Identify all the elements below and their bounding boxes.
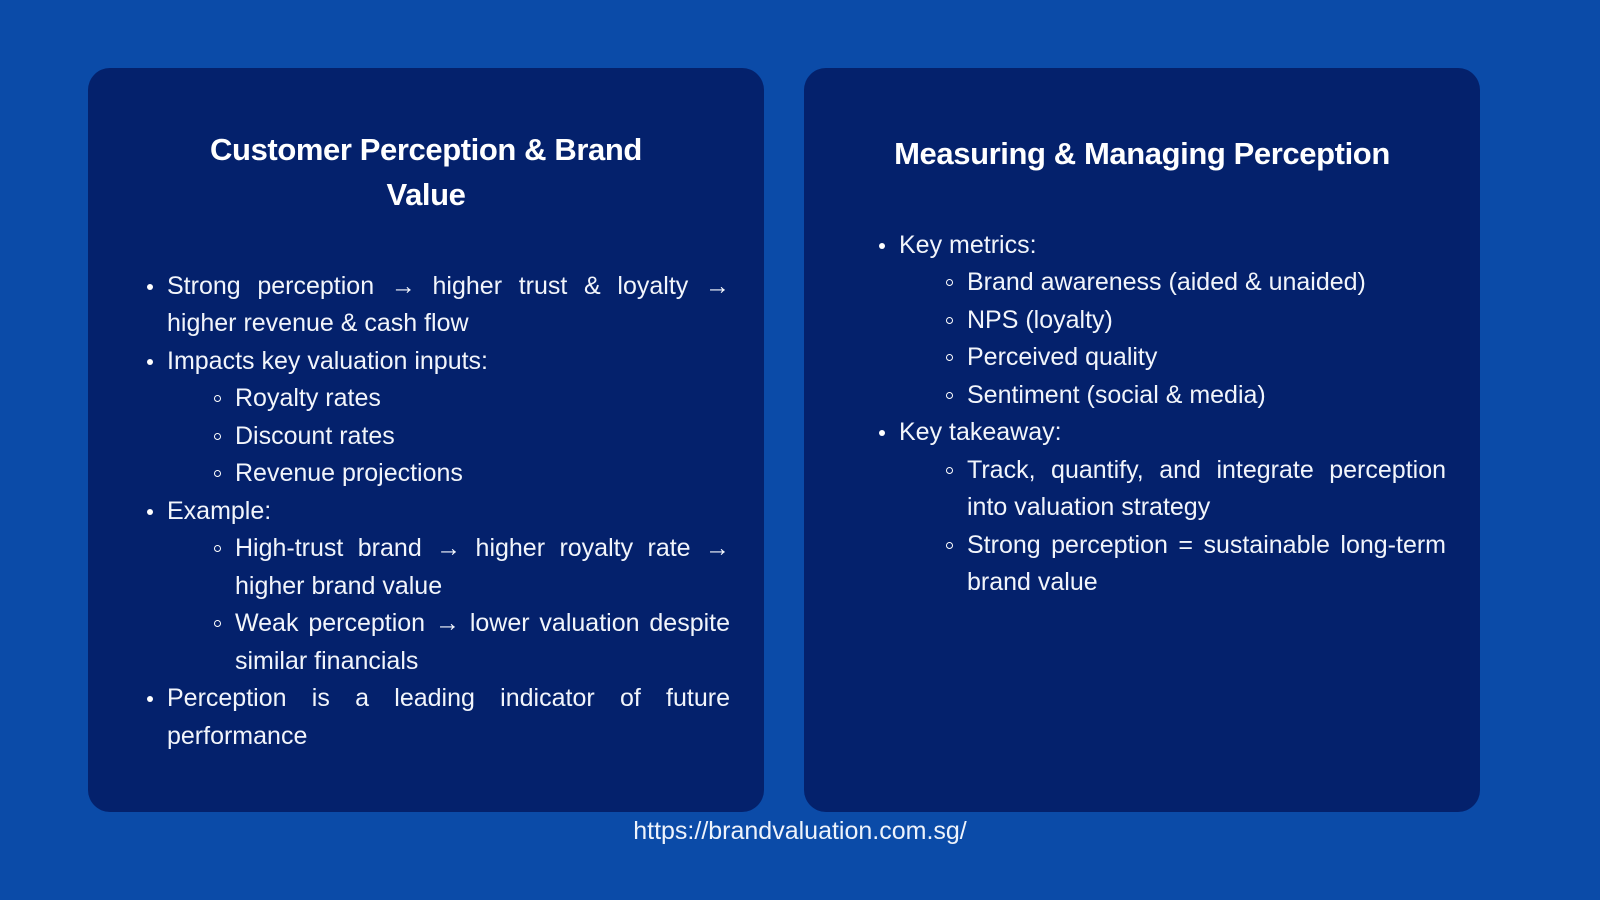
- sub-bullet-list: High-trust brand → higher royalty rate →…: [167, 530, 730, 680]
- list-item: Strong perception → higher trust & loyal…: [144, 268, 730, 343]
- bullet-text: Perception is a leading indicator of fut…: [167, 680, 730, 755]
- sub-bullet-list: Track, quantify, and integrate perceptio…: [899, 452, 1446, 602]
- sub-bullet-list: Brand awareness (aided & unaided) NPS (l…: [899, 264, 1446, 414]
- bullet-text: Key metrics:: [899, 227, 1446, 265]
- sub-list-item: Royalty rates: [214, 380, 730, 418]
- list-item: Key takeaway: Track, quantify, and integ…: [876, 414, 1446, 602]
- slide-root: Customer Perception & Brand Value Strong…: [0, 0, 1600, 900]
- bullet-text: Example:: [167, 493, 730, 531]
- sub-list-item: Discount rates: [214, 418, 730, 456]
- sub-list-item: NPS (loyalty): [946, 302, 1446, 340]
- list-item: Key metrics: Brand awareness (aided & un…: [876, 227, 1446, 415]
- list-item: Impacts key valuation inputs: Royalty ra…: [144, 343, 730, 493]
- card-title-left: Customer Perception & Brand Value: [122, 68, 730, 218]
- bullet-text: Strong perception → higher trust & loyal…: [167, 268, 730, 343]
- list-item: Example: High-trust brand → higher royal…: [144, 493, 730, 681]
- card-customer-perception: Customer Perception & Brand Value Strong…: [88, 68, 764, 812]
- sub-list-item: Perceived quality: [946, 339, 1446, 377]
- footer-url[interactable]: https://brandvaluation.com.sg/: [0, 812, 1600, 900]
- cards-row: Customer Perception & Brand Value Strong…: [88, 68, 1480, 812]
- bullet-text: Key takeaway:: [899, 414, 1446, 452]
- sub-list-item: Track, quantify, and integrate perceptio…: [946, 452, 1446, 527]
- bullet-text: Impacts key valuation inputs:: [167, 343, 730, 381]
- list-item: Perception is a leading indicator of fut…: [144, 680, 730, 755]
- bullet-list-right: Key metrics: Brand awareness (aided & un…: [838, 227, 1446, 602]
- card-measuring-managing: Measuring & Managing Perception Key metr…: [804, 68, 1480, 812]
- sub-list-item: Sentiment (social & media): [946, 377, 1446, 415]
- footer-url-text[interactable]: https://brandvaluation.com.sg/: [633, 817, 967, 846]
- sub-bullet-list: Royalty rates Discount rates Revenue pro…: [167, 380, 730, 493]
- sub-list-item: Revenue projections: [214, 455, 730, 493]
- sub-list-item: Brand awareness (aided & unaided): [946, 264, 1446, 302]
- sub-list-item: High-trust brand → higher royalty rate →…: [214, 530, 730, 605]
- bullet-list-left: Strong perception → higher trust & loyal…: [122, 268, 730, 756]
- card-title-right: Measuring & Managing Perception: [838, 68, 1446, 177]
- sub-list-item: Strong perception = sustainable long-ter…: [946, 527, 1446, 602]
- sub-list-item: Weak perception → lower valuation despit…: [214, 605, 730, 680]
